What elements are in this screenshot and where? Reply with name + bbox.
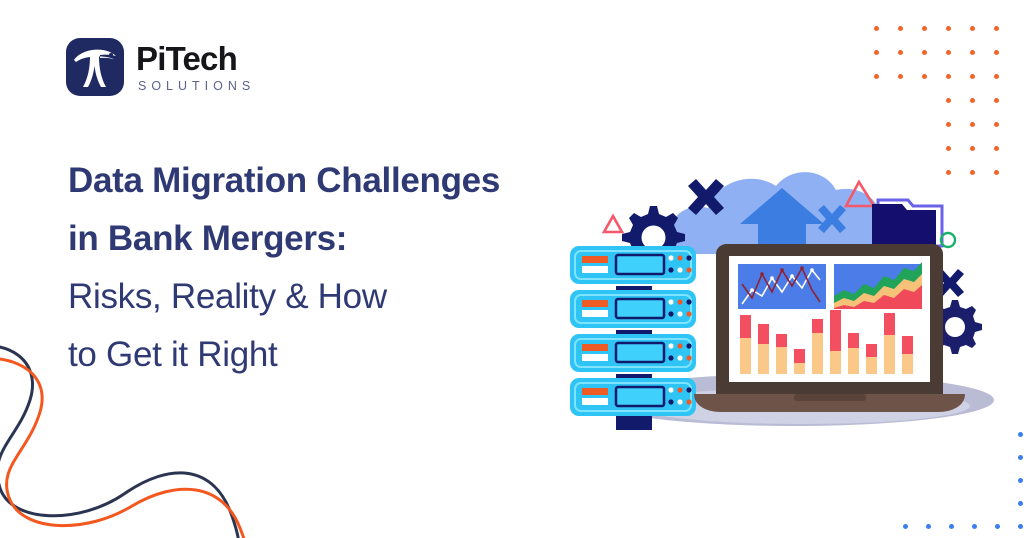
triangle-outline-icon-left	[604, 216, 622, 232]
dot	[946, 50, 951, 55]
dot	[922, 74, 927, 79]
ribbon-decoration	[0, 328, 264, 538]
dot	[995, 524, 1000, 529]
server-stand-post	[616, 414, 652, 430]
dot	[970, 74, 975, 79]
dot-grid-bottom-right	[903, 432, 1023, 534]
headline-line-2: in Bank Mergers:	[68, 210, 588, 268]
dot	[1018, 478, 1023, 483]
screen-area-chart	[834, 262, 922, 309]
dot	[898, 26, 903, 31]
dot	[946, 146, 951, 151]
dot	[994, 122, 999, 127]
dot	[970, 122, 975, 127]
dot	[874, 74, 879, 79]
dot	[898, 74, 903, 79]
laptop-trackpad-notch	[794, 394, 866, 401]
dot	[946, 26, 951, 31]
dot	[994, 74, 999, 79]
dot	[903, 524, 908, 529]
brand-tagline: SOLUTIONS	[136, 80, 255, 93]
headline-line-1: Data Migration Challenges	[68, 152, 588, 210]
banner-canvas: PiTech SOLUTIONS Data Migration Challeng…	[0, 0, 1024, 538]
screen-line-chart	[738, 264, 826, 309]
dot	[922, 26, 927, 31]
dot	[898, 50, 903, 55]
server-unit	[570, 290, 696, 328]
server-unit	[570, 334, 696, 372]
server-unit	[570, 378, 696, 416]
dot	[994, 26, 999, 31]
dot	[874, 50, 879, 55]
dot	[946, 98, 951, 103]
ribbon-orange-stroke	[0, 358, 249, 538]
server-unit	[570, 246, 696, 284]
folder-icon	[872, 200, 942, 248]
dot	[946, 122, 951, 127]
dot	[949, 524, 954, 529]
pitech-pi-monogram-icon	[66, 38, 124, 96]
dot	[874, 26, 879, 31]
brand-logo[interactable]: PiTech SOLUTIONS	[66, 38, 255, 96]
brand-wordmark: PiTech SOLUTIONS	[136, 42, 255, 93]
dot	[970, 98, 975, 103]
ribbon-navy-stroke	[0, 345, 240, 538]
dot	[926, 524, 931, 529]
dot-grid-top-right	[874, 26, 1004, 166]
dot	[994, 98, 999, 103]
brand-name: PiTech	[136, 42, 255, 75]
dot	[1018, 524, 1023, 529]
headline-line-3: Risks, Reality & How	[68, 268, 588, 326]
dot	[1018, 501, 1023, 506]
dot	[970, 50, 975, 55]
dot	[922, 50, 927, 55]
cloud-data-migration-illustration	[556, 158, 1004, 438]
dot	[946, 74, 951, 79]
dot	[994, 50, 999, 55]
server-rack	[570, 246, 696, 430]
dot	[970, 146, 975, 151]
laptop	[694, 244, 965, 412]
dot	[972, 524, 977, 529]
dot	[1018, 432, 1023, 437]
dot	[1018, 455, 1023, 460]
dot	[970, 26, 975, 31]
dot	[994, 146, 999, 151]
